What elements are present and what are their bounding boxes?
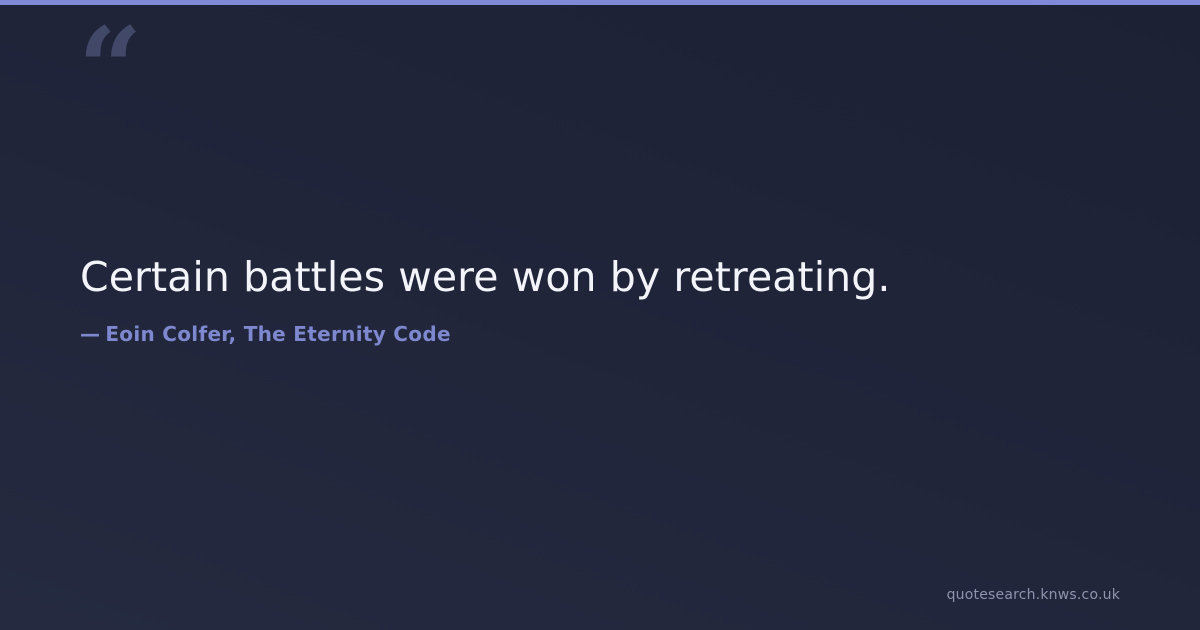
top-accent-bar <box>0 0 1200 5</box>
attribution-label: Eoin Colfer, The Eternity Code <box>105 322 451 346</box>
quote-card: “ Certain battles were won by retreating… <box>0 0 1200 630</box>
quote-text: Certain battles were won by retreating. <box>80 252 1060 304</box>
quote-attribution: —Eoin Colfer, The Eternity Code <box>80 321 1120 347</box>
open-quote-icon: “ <box>78 14 140 126</box>
source-website-url: quotesearch.knws.co.uk <box>947 588 1120 602</box>
quote-content: Certain battles were won by retreating. … <box>80 252 1120 347</box>
attribution-dash: — <box>80 322 100 346</box>
